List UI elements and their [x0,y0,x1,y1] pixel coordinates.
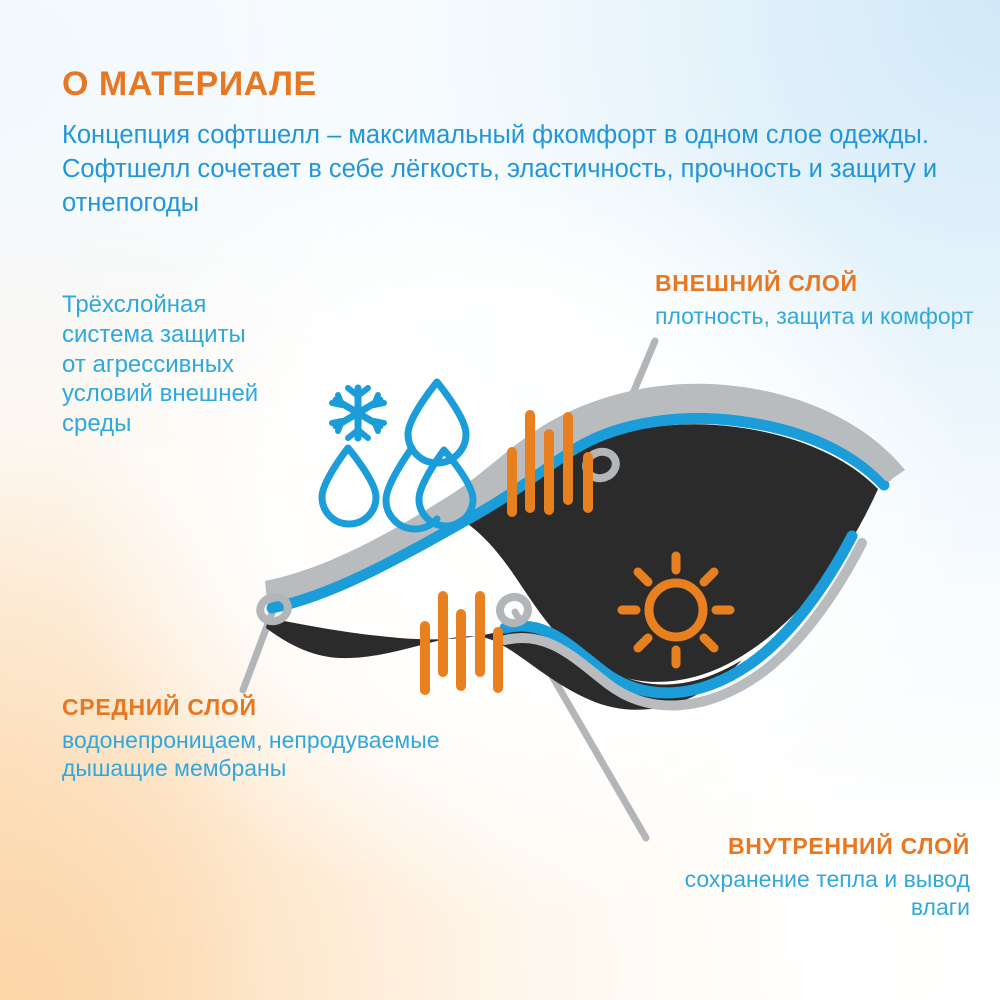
callout-inner-title: ВНУТРЕННИЙ СЛОЙ [650,833,970,861]
callout-outer-body: плотность, защита и комфорт [655,302,975,331]
left-description: Трёхслойная система защиты от агрессивны… [62,290,262,439]
callout-middle-title: СРЕДНИЙ СЛОЙ [62,694,462,722]
page-title: О МАТЕРИАЛЕ [62,66,952,103]
callout-inner-layer: ВНУТРЕННИЙ СЛОЙ сохранение тепла и вывод… [650,833,970,922]
water-droplet-icon [322,448,376,524]
callout-outer-layer: ВНЕШНИЙ СЛОЙ плотность, защита и комфорт [655,270,975,330]
intro-paragraph: Концепция софтшелл – максимальный фкомфо… [62,119,942,221]
callout-middle-body: водонепроницаем, непродуваемые дышащие м… [62,726,462,783]
snowflake-icon [332,388,384,438]
header: О МАТЕРИАЛЕ Концепция софтшелл – максима… [62,66,952,221]
callout-middle-layer: СРЕДНИЙ СЛОЙ водонепроницаем, непродувае… [62,694,462,783]
water-droplet-icon [408,382,466,463]
heat-bars-bottom [425,596,498,690]
callout-outer-title: ВНЕШНИЙ СЛОЙ [655,270,975,298]
callout-inner-body: сохранение тепла и вывод влаги [650,865,970,922]
infographic-page: О МАТЕРИАЛЕ Концепция софтшелл – максима… [0,0,1000,1000]
